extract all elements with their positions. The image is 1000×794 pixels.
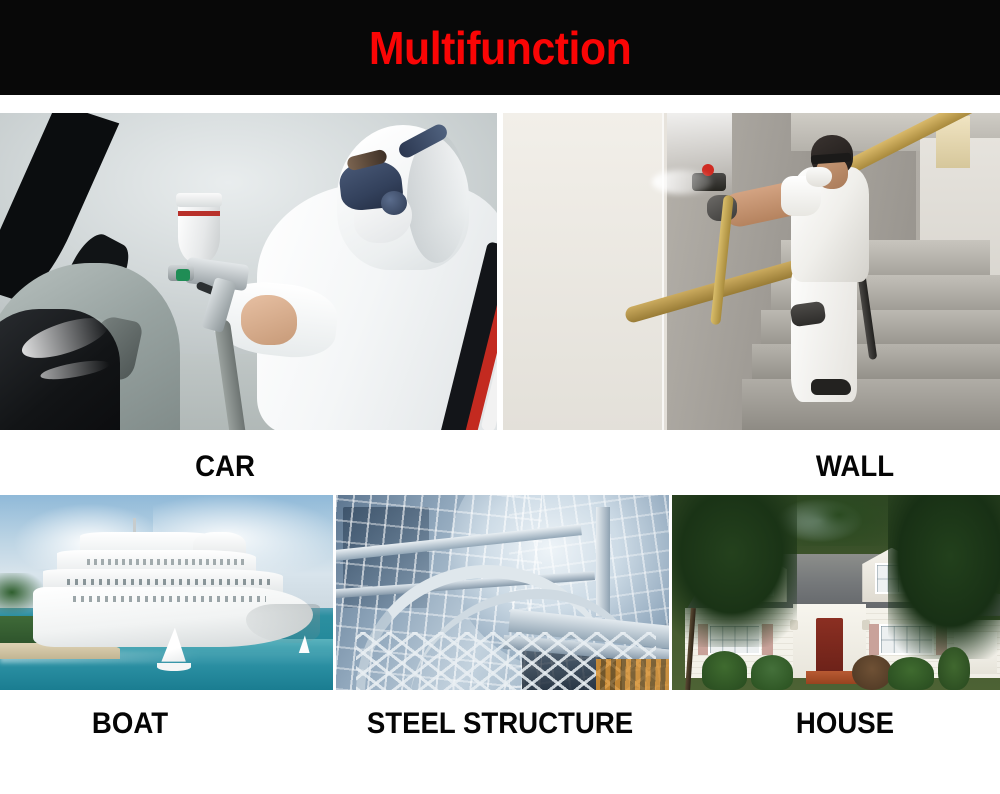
- caption-wall: WALL: [781, 452, 928, 482]
- front-steps: [806, 671, 858, 685]
- wall-corner-edge: [662, 113, 664, 430]
- photo-tile-car[interactable]: [0, 113, 497, 430]
- paint-spray-mist: [652, 170, 712, 194]
- spray-gun-cup-ring: [178, 211, 220, 216]
- photo-tile-wall[interactable]: [503, 113, 1000, 430]
- steel-column: [596, 507, 610, 616]
- caption-house: HOUSE: [771, 709, 918, 739]
- shrub: [938, 647, 971, 690]
- ship-window-row: [73, 596, 266, 602]
- header-banner: Multifunction: [0, 0, 1000, 95]
- spray-gun-adjuster: [176, 269, 190, 281]
- photo-tile-boat[interactable]: [0, 495, 333, 690]
- wall-front-face: [503, 113, 662, 430]
- worker-shoe: [811, 379, 851, 395]
- ship-window-row: [67, 579, 273, 585]
- stair-step: [742, 379, 1000, 430]
- respirator-filter-icon: [381, 191, 407, 215]
- shrub: [888, 657, 934, 690]
- warm-floor-lighting: [596, 659, 669, 690]
- caption-car: CAR: [151, 452, 298, 482]
- ship-window-row: [87, 559, 247, 565]
- multifunction-gallery-page: Multifunction: [0, 0, 1000, 794]
- photo-tile-house[interactable]: [672, 495, 1000, 690]
- photo-tile-steel-structure[interactable]: [336, 495, 669, 690]
- caption-boat: BOAT: [56, 709, 203, 739]
- caption-steel-structure: STEEL STRUCTURE: [353, 709, 647, 739]
- painter-hand: [241, 295, 297, 345]
- shrub: [852, 655, 891, 690]
- foreground-tree-right: [888, 495, 1000, 659]
- spray-gun-cup-lid: [176, 193, 222, 207]
- front-door: [816, 618, 842, 673]
- shrub: [751, 655, 794, 690]
- page-title: Multifunction: [369, 25, 631, 71]
- shrub: [702, 651, 748, 690]
- sailboat-hull: [157, 663, 191, 671]
